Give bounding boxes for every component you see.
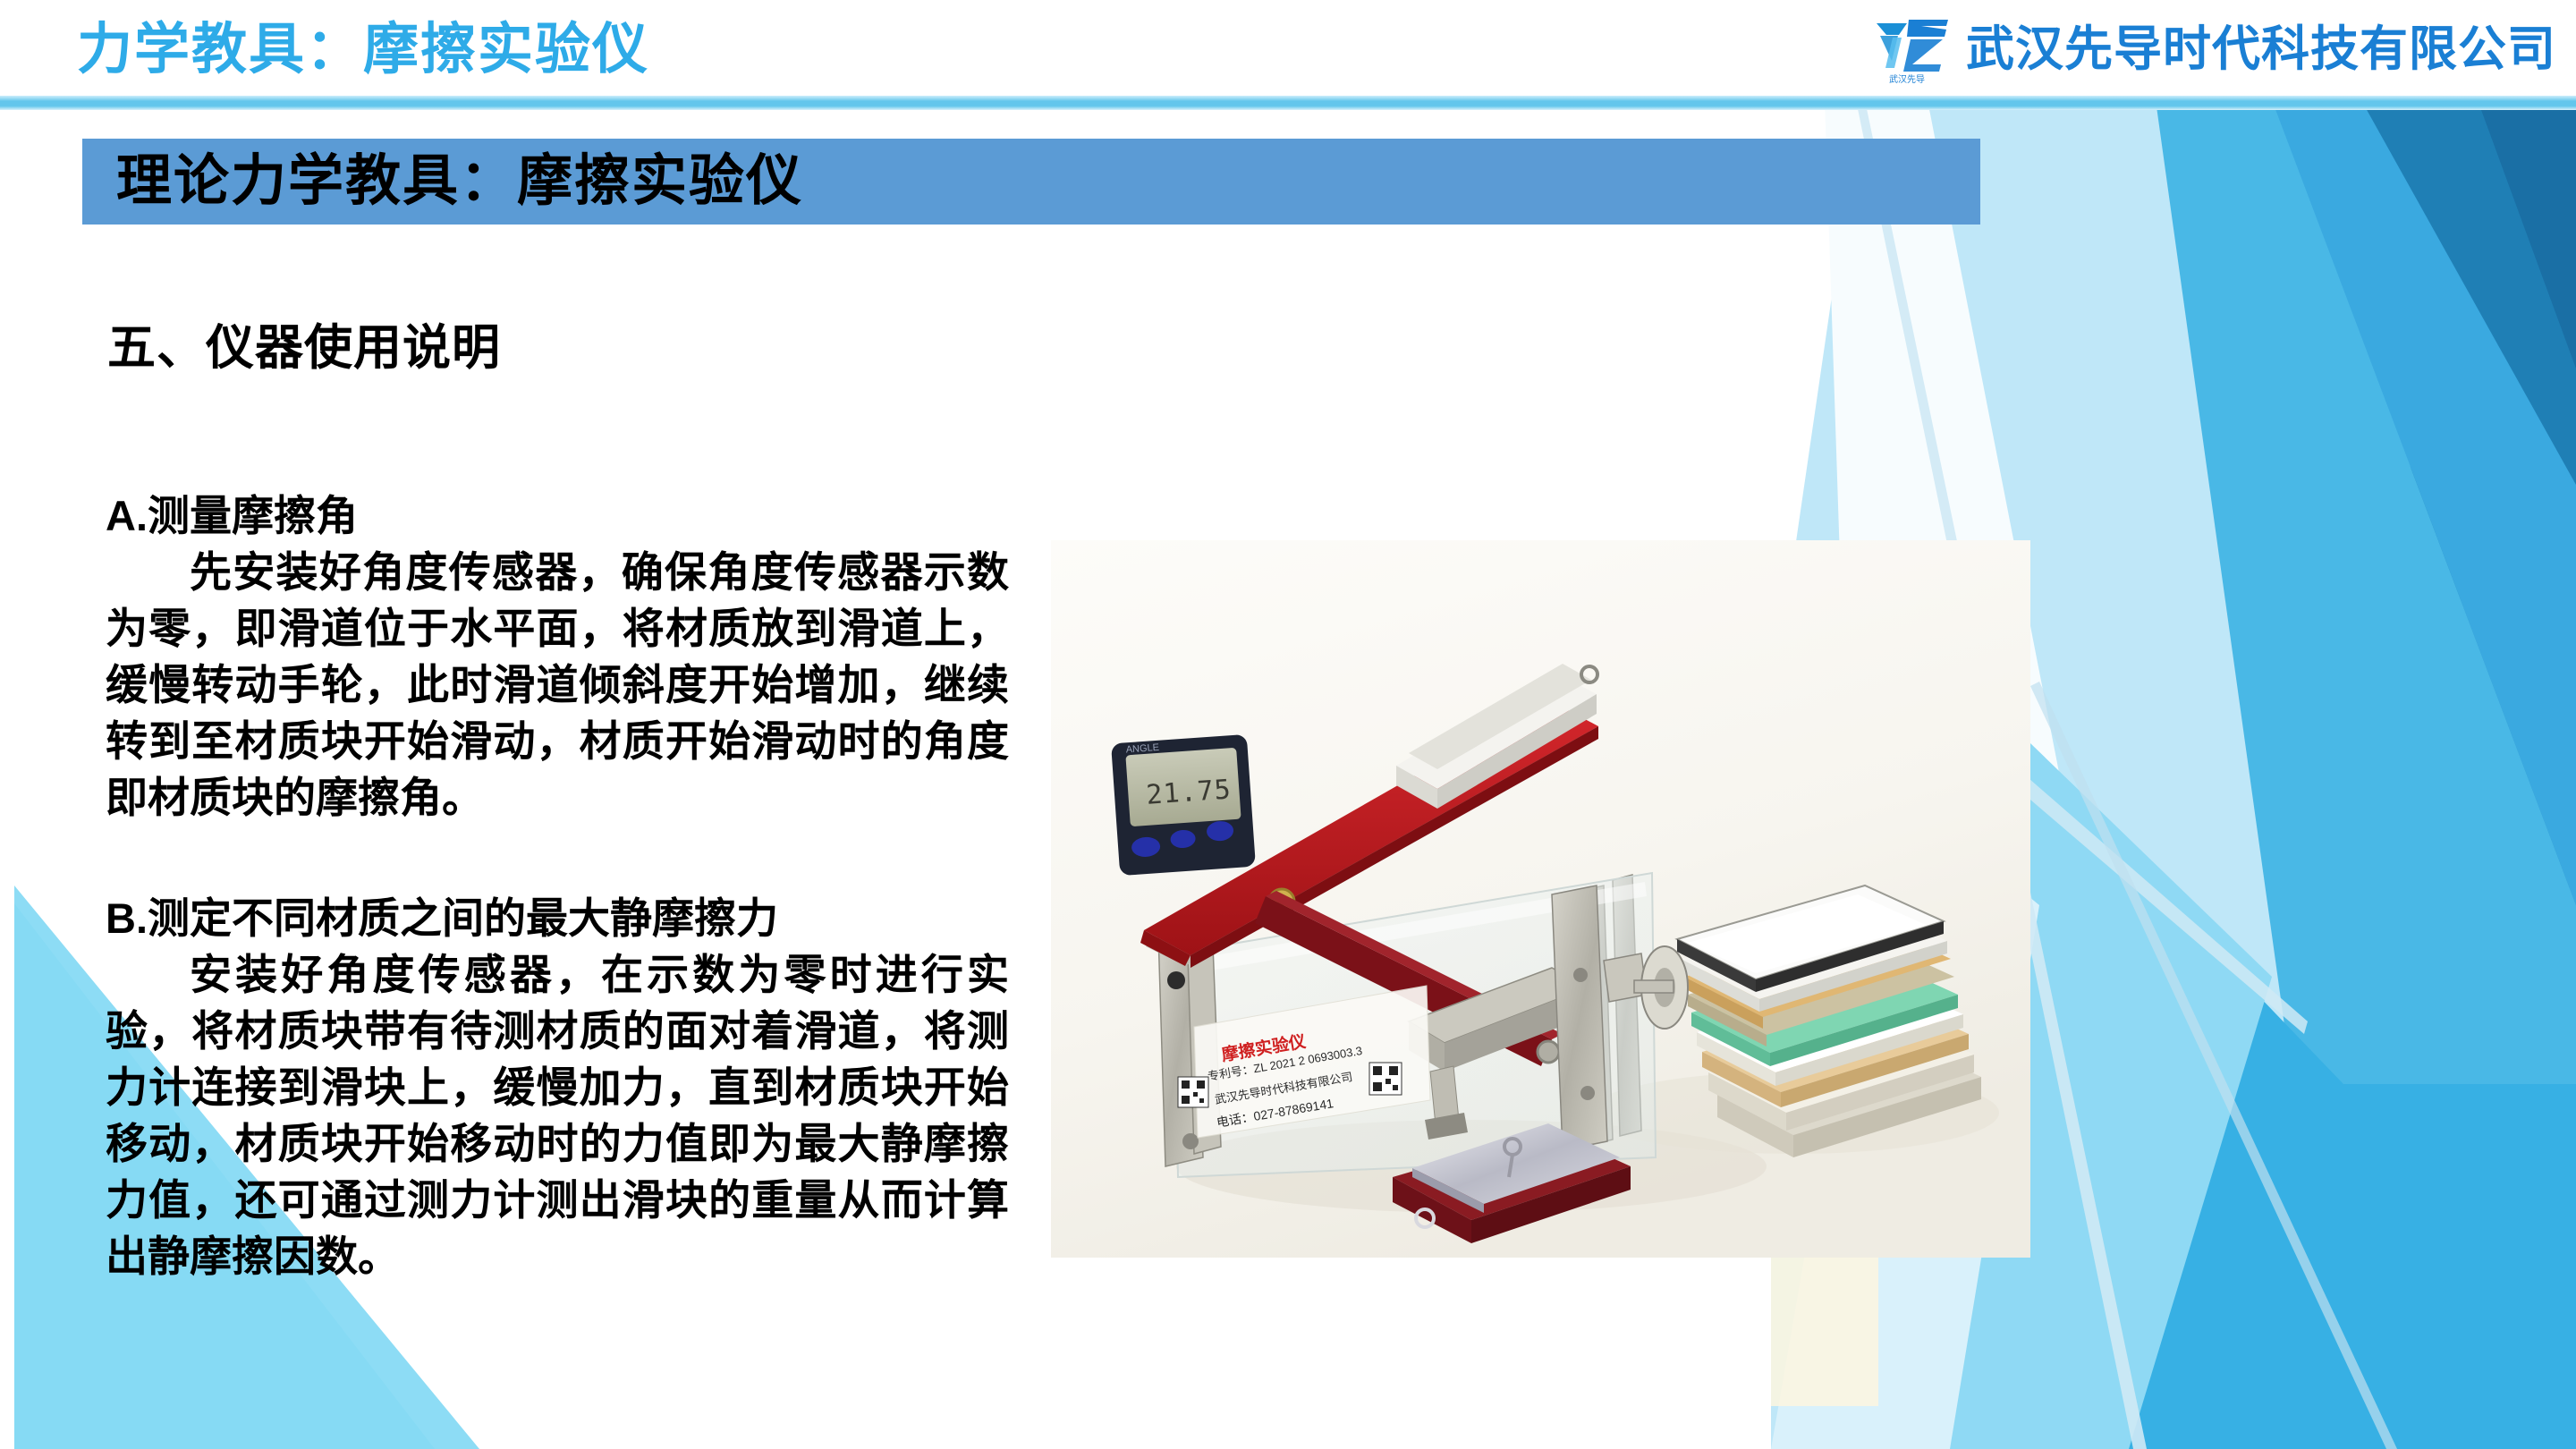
angle-readout: 21.75: [1145, 774, 1233, 811]
company-logo-icon: 武汉先导: [1871, 11, 1953, 88]
page-title: 力学教具：摩擦实验仪: [77, 7, 649, 93]
instruction-block-b: B.测定不同材质之间的最大静摩擦力 安装好角度传感器，在示数为零时进行实验，将材…: [106, 890, 1009, 1284]
instruction-b-body: 安装好角度传感器，在示数为零时进行实验，将材质块带有待测材质的面对着滑道，将测力…: [106, 946, 1009, 1284]
svg-text:武汉先导: 武汉先导: [1889, 73, 1925, 85]
qr-code-icon: [1178, 1077, 1208, 1107]
instruction-a-title: A.测量摩擦角: [106, 492, 358, 539]
friction-apparatus-photo: 21.75 ANGLE: [1051, 540, 2030, 1258]
company-brand: 武汉先导 武汉先导时代科技有限公司: [1871, 11, 2556, 88]
digital-angle-sensor: 21.75 ANGLE: [1111, 734, 1256, 876]
section-title-text: 理论力学教具：摩擦实验仪: [116, 154, 803, 209]
slide-root: 力学教具：摩擦实验仪 武汉先导 武汉先导时代科技有限公司 理论力学教具：摩擦实验…: [0, 0, 2576, 1449]
company-name: 武汉先导时代科技有限公司: [1966, 11, 2556, 88]
section-title-banner: 理论力学教具：摩擦实验仪: [82, 139, 1980, 225]
instruction-block-a: A.测量摩擦角 先安装好角度传感器，确保角度传感器示数为零，即滑道位于水平面，将…: [106, 487, 1009, 826]
header-divider: [0, 96, 2576, 110]
instruction-a-body: 先安装好角度传感器，确保角度传感器示数为零，即滑道位于水平面，将材质放到滑道上，…: [106, 544, 1009, 826]
instructions-heading: 五、仪器使用说明: [107, 322, 501, 375]
slide-header: 力学教具：摩擦实验仪 武汉先导 武汉先导时代科技有限公司: [0, 0, 2576, 100]
qr-code-secondary-icon: [1369, 1063, 1402, 1095]
instruction-b-title: B.测定不同材质之间的最大静摩擦力: [106, 894, 778, 942]
